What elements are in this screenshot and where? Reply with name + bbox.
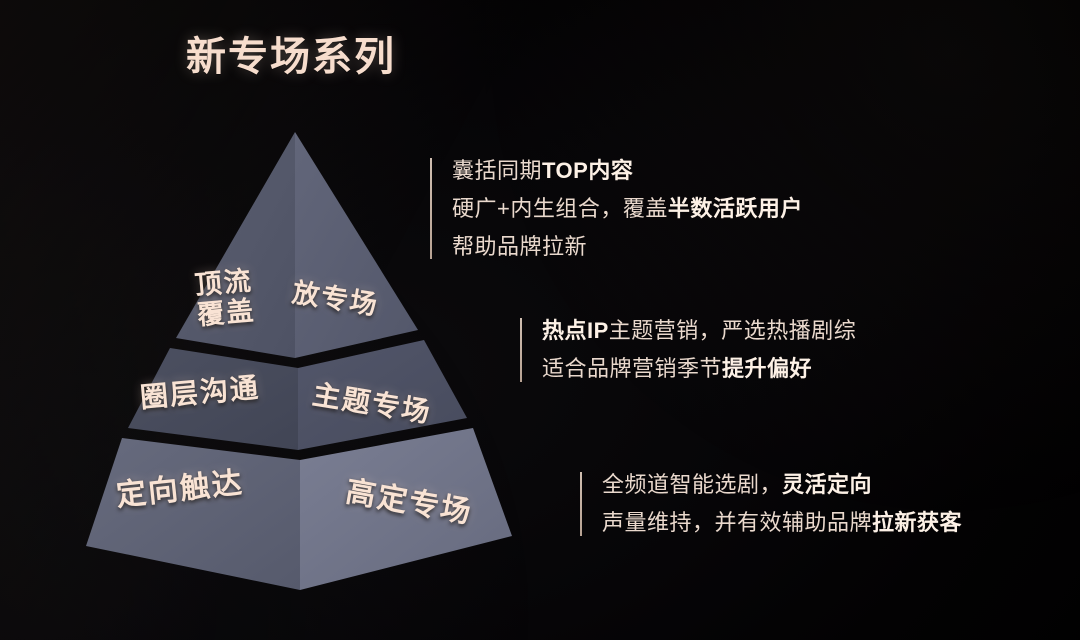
callout-middle: 热点IP主题营销，严选热播剧综适合品牌营销季节提升偏好	[520, 312, 856, 388]
callout-line: 声量维持，并有效辅助品牌拉新获客	[602, 504, 962, 542]
callout-text-emphasis: 灵活定向	[782, 472, 872, 497]
callout-text: 囊括同期	[452, 158, 542, 183]
tier-middle-right-label: 主题专场	[310, 379, 433, 429]
callout-text-emphasis: 提升偏好	[722, 356, 812, 381]
callout-line: 热点IP主题营销，严选热播剧综	[542, 312, 856, 350]
callout-line: 囊括同期TOP内容	[452, 152, 803, 190]
tier-base-left-label: 定向触达	[115, 466, 246, 513]
tier-top-left-label: 顶流 覆盖	[193, 266, 256, 331]
slide-canvas: 新专场系列	[0, 0, 1080, 640]
callout-text-emphasis: TOP内容	[542, 158, 633, 183]
tier-base-left-face	[86, 438, 300, 590]
callout-text: 帮助品牌拉新	[452, 234, 587, 259]
tier-top-right-face	[295, 132, 418, 358]
callout-text: 主题营销，严选热播剧综	[609, 318, 857, 343]
callout-text: 适合品牌营销季节	[542, 356, 722, 381]
callout-text: 声量维持，并有效辅助品牌	[602, 510, 872, 535]
callout-text-emphasis: 半数活跃用户	[668, 196, 803, 221]
callout-line: 硬广+内生组合，覆盖半数活跃用户	[452, 190, 803, 228]
callout-base: 全频道智能选剧，灵活定向声量维持，并有效辅助品牌拉新获客	[580, 466, 962, 542]
tier-top-right-label: 放专场	[290, 277, 381, 320]
callout-text-emphasis: 拉新获客	[872, 510, 962, 535]
callout-line: 适合品牌营销季节提升偏好	[542, 350, 856, 388]
callout-line: 全频道智能选剧，灵活定向	[602, 466, 962, 504]
callout-line: 帮助品牌拉新	[452, 228, 803, 266]
tier-top-left-label-line2: 覆盖	[196, 296, 256, 331]
page-title: 新专场系列	[186, 24, 396, 82]
callout-top: 囊括同期TOP内容硬广+内生组合，覆盖半数活跃用户帮助品牌拉新	[430, 152, 803, 265]
callout-text: 硬广+内生组合，覆盖	[452, 196, 668, 221]
callout-text-emphasis: 热点IP	[542, 318, 609, 343]
tier-base-right-label: 高定专场	[343, 475, 475, 530]
tier-middle-left-label: 圈层沟通	[139, 372, 261, 414]
callout-text: 全频道智能选剧，	[602, 472, 782, 497]
